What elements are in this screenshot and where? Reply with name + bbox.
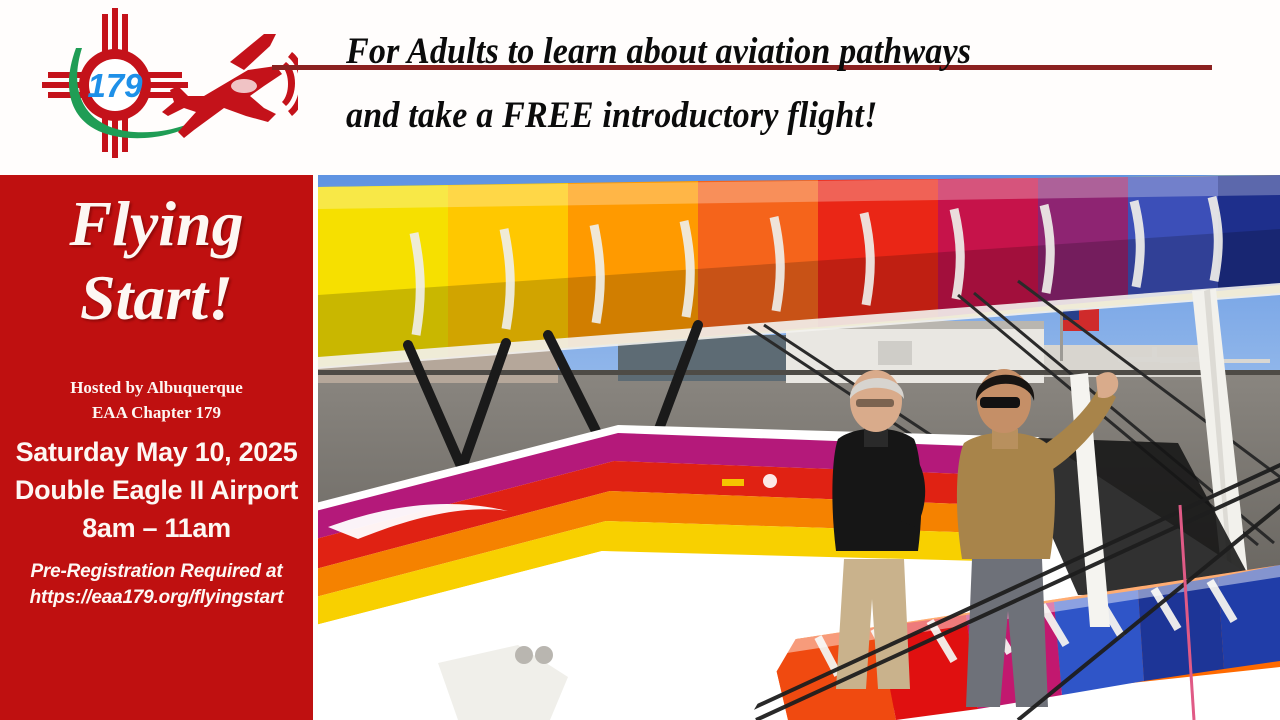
event-time: 8am – 11am xyxy=(0,509,313,547)
host-line-2: EAA Chapter 179 xyxy=(0,400,313,425)
logo-chapter-number: 179 xyxy=(87,67,143,104)
panel-title-line-1: Flying xyxy=(69,188,243,259)
registration-block: Pre-Registration Required at https://eaa… xyxy=(0,559,313,611)
flyer-poster: 179 For Adults to learn about aviation p… xyxy=(0,0,1280,720)
eaa-chapter-179-logo: 179 xyxy=(18,4,298,169)
poster-header: 179 For Adults to learn about aviation p… xyxy=(0,0,1280,175)
event-location: Double Eagle II Airport xyxy=(0,471,313,509)
panel-title-line-2: Start! xyxy=(0,261,313,335)
headline-block: For Adults to learn about aviation pathw… xyxy=(346,14,1246,154)
event-info-panel: Flying Start! Hosted by Albuquerque EAA … xyxy=(0,175,313,720)
host-line-1: Hosted by Albuquerque xyxy=(0,375,313,400)
headline-line-2: and take a FREE introductory flight! xyxy=(346,94,878,137)
host-block: Hosted by Albuquerque EAA Chapter 179 xyxy=(0,375,313,425)
registration-label: Pre-Registration Required at xyxy=(0,559,313,585)
event-photo xyxy=(318,175,1280,720)
panel-title: Flying Start! xyxy=(0,187,313,335)
registration-url[interactable]: https://eaa179.org/flyingstart xyxy=(0,585,313,611)
headline-line-1: For Adults to learn about aviation pathw… xyxy=(346,30,971,73)
event-date: Saturday May 10, 2025 xyxy=(0,433,313,471)
event-details-block: Saturday May 10, 2025 Double Eagle II Ai… xyxy=(0,433,313,547)
